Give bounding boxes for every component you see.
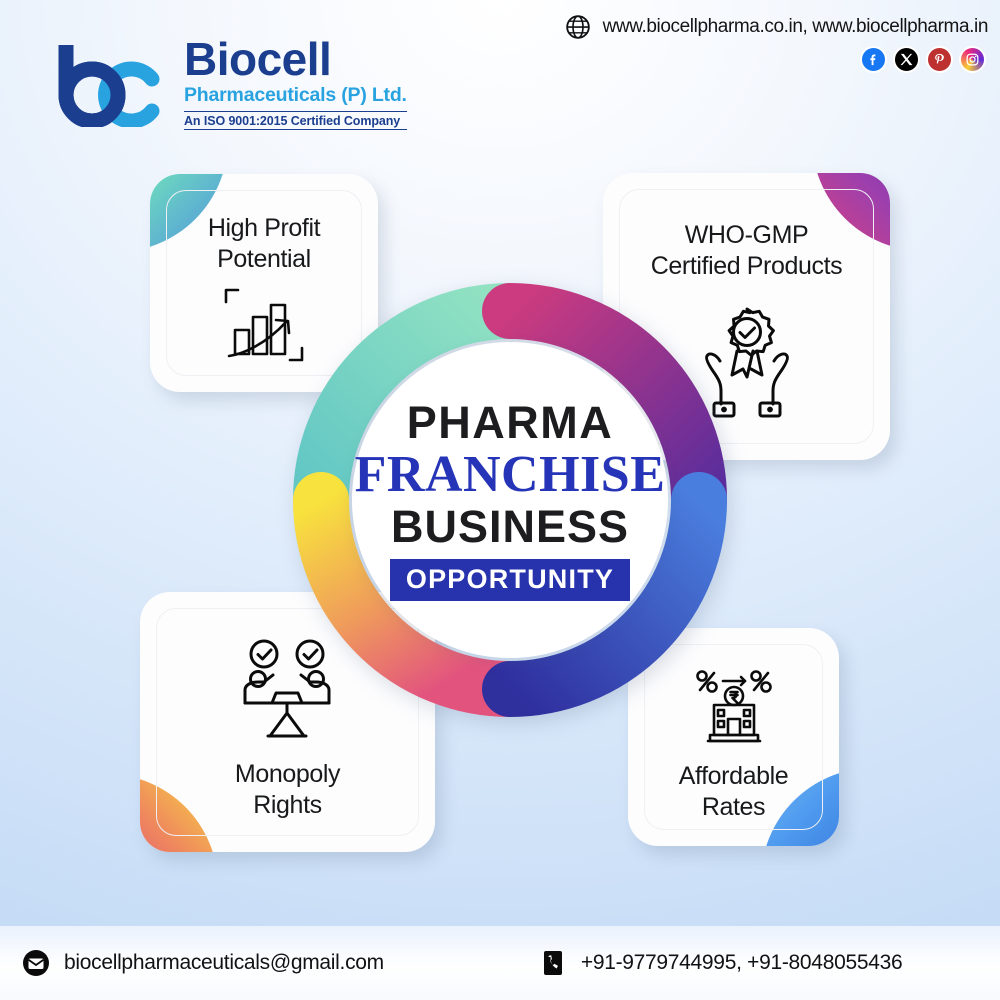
logo-iso-line: An ISO 9001:2015 Certified Company (184, 111, 407, 131)
card-title-line2: Certified Products (651, 252, 843, 280)
x-twitter-icon[interactable] (893, 46, 920, 73)
logo-company-subtitle: Pharmaceuticals (P) Ltd. (184, 86, 407, 106)
phone-icon (539, 949, 567, 977)
instagram-icon[interactable] (959, 46, 986, 73)
card-title-line1: Affordable (679, 762, 789, 790)
card-title-line1: WHO-GMP (685, 221, 809, 249)
headline-line-business: BUSINESS (391, 503, 629, 550)
footer-phone[interactable]: +91-9779744995, +91-8048055436 (539, 949, 902, 977)
opportunity-badge: OPPORTUNITY (390, 559, 630, 601)
center-headline-block: PHARMA FRANCHISE BUSINESS OPPORTUNITY (352, 342, 668, 658)
card-title-line2: Potential (217, 245, 311, 273)
globe-icon (565, 14, 591, 40)
card-title-line1: Monopoly (235, 760, 340, 788)
logo-company-name: Biocell (184, 36, 407, 82)
card-title-line2: Rights (253, 791, 321, 819)
card-title-line1: High Profit (208, 214, 320, 242)
footer-email[interactable]: biocellpharmaceuticals@gmail.com (22, 949, 384, 977)
header: Biocell Pharmaceuticals (P) Ltd. An ISO … (0, 0, 1000, 150)
website-row: www.biocellpharma.co.in, www.biocellphar… (565, 14, 988, 40)
website-urls[interactable]: www.biocellpharma.co.in, www.biocellphar… (603, 16, 988, 38)
facebook-icon[interactable] (860, 46, 887, 73)
headline-line-pharma: PHARMA (407, 399, 614, 446)
footer-phone-text[interactable]: +91-9779744995, +91-8048055436 (581, 951, 902, 975)
card-title: WHO-GMP Certified Products (651, 220, 843, 281)
company-logo: Biocell Pharmaceuticals (P) Ltd. An ISO … (48, 36, 407, 130)
envelope-icon (22, 949, 50, 977)
pinterest-icon[interactable] (926, 46, 953, 73)
logo-wordmark: Biocell Pharmaceuticals (P) Ltd. An ISO … (184, 36, 407, 130)
footer-email-text[interactable]: biocellpharmaceuticals@gmail.com (64, 951, 384, 975)
card-title: Affordable Rates (679, 761, 789, 822)
headline-line-franchise: FRANCHISE (355, 448, 666, 501)
social-links (860, 46, 986, 73)
bc-monogram-logo-icon (48, 39, 170, 127)
card-title: High Profit Potential (208, 213, 320, 274)
contact-footer: biocellpharmaceuticals@gmail.com +91-977… (0, 926, 1000, 1000)
poster-canvas: Biocell Pharmaceuticals (P) Ltd. An ISO … (0, 0, 1000, 1000)
card-title-line2: Rates (702, 793, 765, 821)
card-title: Monopoly Rights (235, 759, 340, 820)
